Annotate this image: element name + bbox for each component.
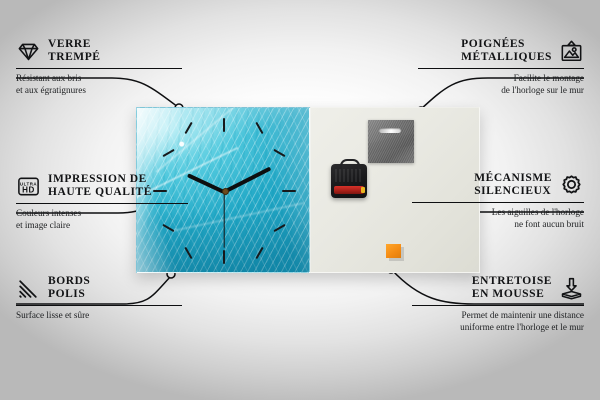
callout-title: ENTRETOISE EN MOUSSE (472, 275, 552, 301)
callout-description: Facilite le montage de l'horloge sur le … (418, 73, 584, 96)
callout-description: Surface lisse et sûre (16, 310, 182, 321)
metal-hanger-plate (368, 120, 414, 163)
callout-divider (418, 68, 584, 69)
quartz-mechanism (331, 164, 367, 198)
callout-bords-polis: BORDS POLIS Surface lisse et sûre (16, 275, 182, 322)
callout-divider (412, 202, 584, 203)
hanger-slot (379, 128, 401, 133)
callout-description: Couleurs intenses et image claire (16, 208, 188, 231)
callout-header: VERRE TREMPÉ (16, 38, 182, 64)
clock-tick (223, 250, 225, 264)
callout-header: MÉCANISME SILENCIEUX (412, 172, 584, 198)
callout-title: POIGNÉES MÉTALLIQUES (461, 38, 552, 64)
clock-center-cap (222, 188, 229, 195)
gear-icon (559, 173, 584, 198)
callout-divider (16, 203, 188, 204)
callout-description: Résistant aux bris et aux égratignures (16, 73, 182, 96)
callout-title: IMPRESSION DE HAUTE QUALITÉ (48, 173, 152, 199)
svg-text:HD: HD (22, 185, 35, 194)
clock-tick (223, 118, 225, 132)
callout-mecanisme-silencieux: MÉCANISME SILENCIEUX Les aiguilles de l'… (412, 172, 584, 230)
callout-title: BORDS POLIS (48, 275, 90, 301)
infographic-canvas: VERRE TREMPÉ Résistant aux bris et aux é… (0, 0, 600, 400)
callout-header: POIGNÉES MÉTALLIQUES (418, 38, 584, 64)
callout-divider (16, 305, 182, 306)
clock-second-hand (223, 192, 224, 248)
callout-impression-haute-qualite: ultra HD IMPRESSION DE HAUTE QUALITÉ Cou… (16, 173, 188, 231)
picture-frame-icon (559, 39, 584, 64)
callout-divider (412, 305, 584, 306)
callout-title: VERRE TREMPÉ (48, 38, 101, 64)
polished-edge-icon (16, 276, 41, 301)
clock-tick (282, 190, 296, 192)
callout-divider (16, 68, 182, 69)
press-down-icon (559, 276, 584, 301)
foam-spacer (386, 244, 401, 258)
callout-entretoise-en-mousse: ENTRETOISE EN MOUSSE Permet de maintenir… (412, 275, 584, 333)
callout-header: BORDS POLIS (16, 275, 182, 301)
battery (334, 186, 364, 194)
callout-header: ultra HD IMPRESSION DE HAUTE QUALITÉ (16, 173, 188, 199)
callout-description: Les aiguilles de l'horloge ne font aucun… (412, 207, 584, 230)
diamond-icon (16, 39, 41, 64)
callout-title: MÉCANISME SILENCIEUX (474, 172, 552, 198)
callout-verre-trempe: VERRE TREMPÉ Résistant aux bris et aux é… (16, 38, 182, 96)
mechanism-texture (335, 169, 363, 182)
ultra-hd-icon: ultra HD (16, 174, 41, 199)
callout-poignees-metalliques: POIGNÉES MÉTALLIQUES Facilite le montage… (418, 38, 584, 96)
callout-header: ENTRETOISE EN MOUSSE (412, 275, 584, 301)
callout-description: Permet de maintenir une distance uniform… (412, 310, 584, 333)
